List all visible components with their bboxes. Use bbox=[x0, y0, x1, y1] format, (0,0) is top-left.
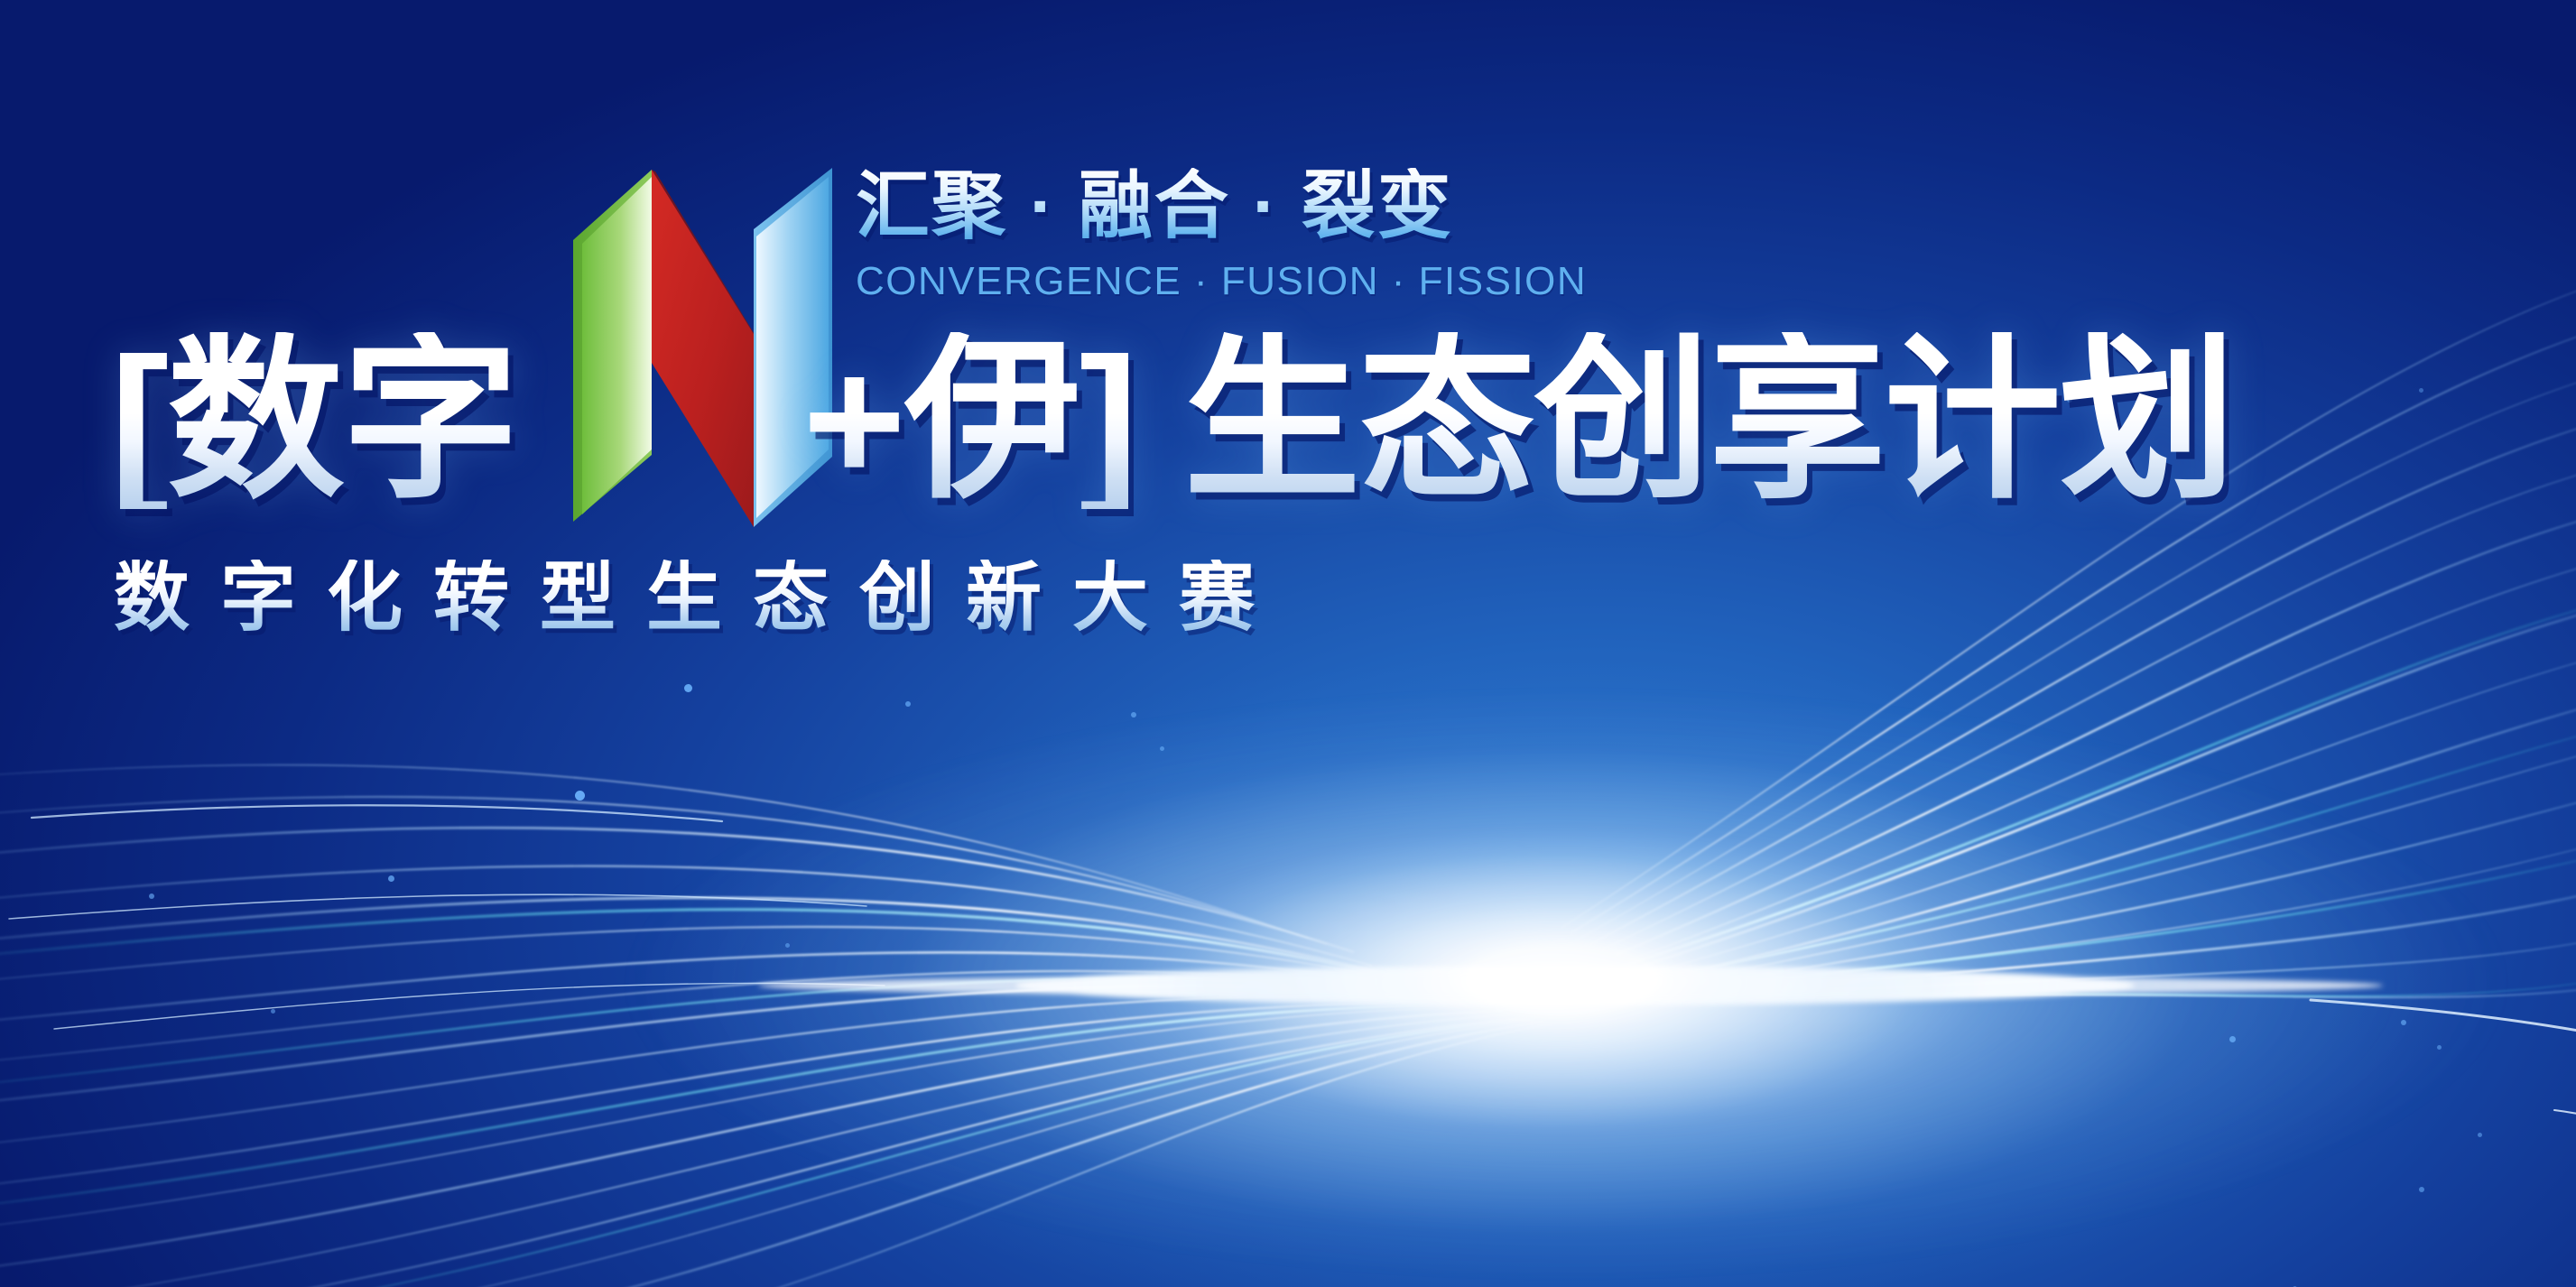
streak-group-right bbox=[1561, 271, 2576, 998]
title-part-after-logo: +伊] 生态创享计划 bbox=[802, 332, 2234, 509]
tagline-chinese: 汇聚 · 融合 · 裂变 bbox=[856, 168, 2029, 246]
page-subtitle: 数字化转型生态创新大赛 bbox=[114, 560, 1285, 635]
particle-dot bbox=[2437, 1045, 2442, 1050]
poster-canvas: 汇聚 · 融合 · 裂变 CONVERGENCE · FUSION · FISS… bbox=[0, 0, 2576, 1287]
title-part-before-logo: [数字 bbox=[110, 332, 517, 509]
particle-dot bbox=[2067, 397, 2072, 403]
particle-dot bbox=[2419, 388, 2423, 393]
tagline-block: 汇聚 · 融合 · 裂变 CONVERGENCE · FUSION · FISS… bbox=[856, 168, 2029, 304]
poster-header: 汇聚 · 融合 · 裂变 CONVERGENCE · FUSION · FISS… bbox=[0, 0, 2576, 668]
streak-accents-left bbox=[9, 805, 885, 1029]
particle-dot bbox=[1131, 712, 1136, 718]
particle-dot bbox=[2419, 1187, 2424, 1192]
streak-group-left-cyan bbox=[0, 910, 1529, 1287]
particle-dot bbox=[2401, 1020, 2406, 1025]
particle-dot bbox=[1160, 746, 1164, 751]
particle-dot bbox=[2229, 1036, 2236, 1042]
particle-dot bbox=[905, 701, 911, 707]
particle-dot bbox=[575, 791, 585, 801]
particle-dot bbox=[388, 875, 394, 882]
tagline-english: CONVERGENCE · FUSION · FISSION bbox=[856, 259, 2029, 304]
n-logo-icon bbox=[569, 150, 839, 529]
particle-dot bbox=[149, 893, 154, 899]
streak-accent-lower-right bbox=[2311, 1000, 2576, 1126]
light-streaks-background bbox=[0, 0, 2576, 1287]
particle-dot bbox=[2478, 1133, 2482, 1137]
streak-group-left bbox=[0, 765, 1552, 1287]
streak-group-right-cyan bbox=[1628, 596, 2576, 996]
particle-dot bbox=[684, 684, 692, 692]
particle-dot bbox=[785, 943, 790, 948]
center-glow bbox=[618, 686, 2514, 1282]
page-title: [数字+伊] 生态创享计划 bbox=[110, 332, 2234, 509]
particle-dot bbox=[271, 1009, 275, 1014]
